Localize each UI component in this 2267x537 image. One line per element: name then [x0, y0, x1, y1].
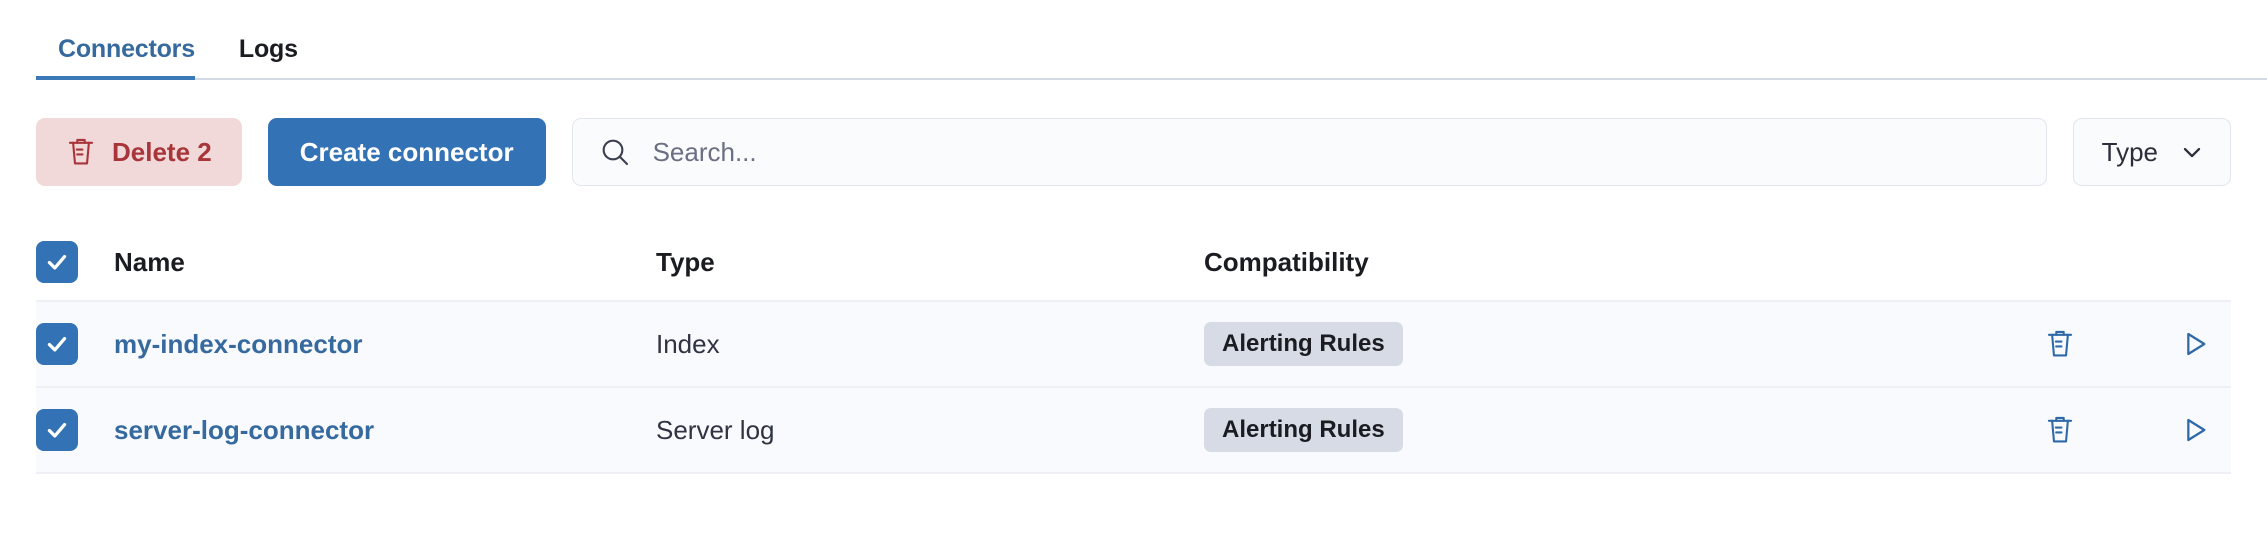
- search-icon: [599, 136, 631, 168]
- run-row-button[interactable]: [2175, 324, 2215, 364]
- compatibility-badge: Alerting Rules: [1204, 408, 1403, 452]
- connector-name-cell: server-log-connector: [114, 415, 656, 446]
- toolbar: Delete 2 Create connector Type: [0, 80, 2267, 186]
- column-header-compatibility[interactable]: Compatibility: [1204, 247, 2041, 278]
- run-icon: [2179, 414, 2211, 446]
- select-all-cell: [36, 241, 114, 283]
- search-input[interactable]: [653, 137, 2020, 168]
- delete-button-label: Delete 2: [112, 137, 212, 168]
- tab-bar-divider: [36, 78, 2267, 80]
- row-actions: [2041, 410, 2231, 450]
- connectors-table: Name Type Compatibility my-index-connect…: [36, 224, 2231, 474]
- connector-name-link[interactable]: server-log-connector: [114, 415, 374, 445]
- type-filter-dropdown[interactable]: Type: [2073, 118, 2231, 186]
- trash-icon: [2045, 414, 2075, 446]
- row-checkbox[interactable]: [36, 409, 78, 451]
- connector-type-cell: Server log: [656, 415, 1204, 446]
- tab-bar: Connectors Logs: [0, 0, 2267, 80]
- connector-name-cell: my-index-connector: [114, 329, 656, 360]
- delete-row-button[interactable]: [2041, 324, 2079, 364]
- delete-row-button[interactable]: [2041, 410, 2079, 450]
- compatibility-badge: Alerting Rules: [1204, 322, 1403, 366]
- connector-compatibility-cell: Alerting Rules: [1204, 408, 2041, 452]
- run-icon: [2179, 328, 2211, 360]
- row-select-cell: [36, 323, 114, 365]
- column-header-type[interactable]: Type: [656, 247, 1204, 278]
- connectors-page: Connectors Logs Delete 2 Create connecto…: [0, 0, 2267, 537]
- connector-compatibility-cell: Alerting Rules: [1204, 322, 2041, 366]
- table-header-row: Name Type Compatibility: [36, 224, 2231, 302]
- trash-icon: [2045, 328, 2075, 360]
- column-header-name[interactable]: Name: [114, 247, 656, 278]
- run-row-button[interactable]: [2175, 410, 2215, 450]
- type-filter-label: Type: [2102, 137, 2158, 168]
- trash-icon: [66, 136, 96, 168]
- create-connector-button[interactable]: Create connector: [268, 118, 546, 186]
- connector-name-link[interactable]: my-index-connector: [114, 329, 363, 359]
- table-row: my-index-connector Index Alerting Rules: [36, 302, 2231, 388]
- tab-logs[interactable]: Logs: [217, 37, 320, 80]
- delete-button[interactable]: Delete 2: [36, 118, 242, 186]
- table-row: server-log-connector Server log Alerting…: [36, 388, 2231, 474]
- connector-type-cell: Index: [656, 329, 1204, 360]
- row-checkbox[interactable]: [36, 323, 78, 365]
- row-actions: [2041, 324, 2231, 364]
- tab-connectors[interactable]: Connectors: [36, 37, 217, 80]
- search-field[interactable]: [572, 118, 2047, 186]
- chevron-down-icon: [2178, 138, 2206, 166]
- select-all-checkbox[interactable]: [36, 241, 78, 283]
- row-select-cell: [36, 409, 114, 451]
